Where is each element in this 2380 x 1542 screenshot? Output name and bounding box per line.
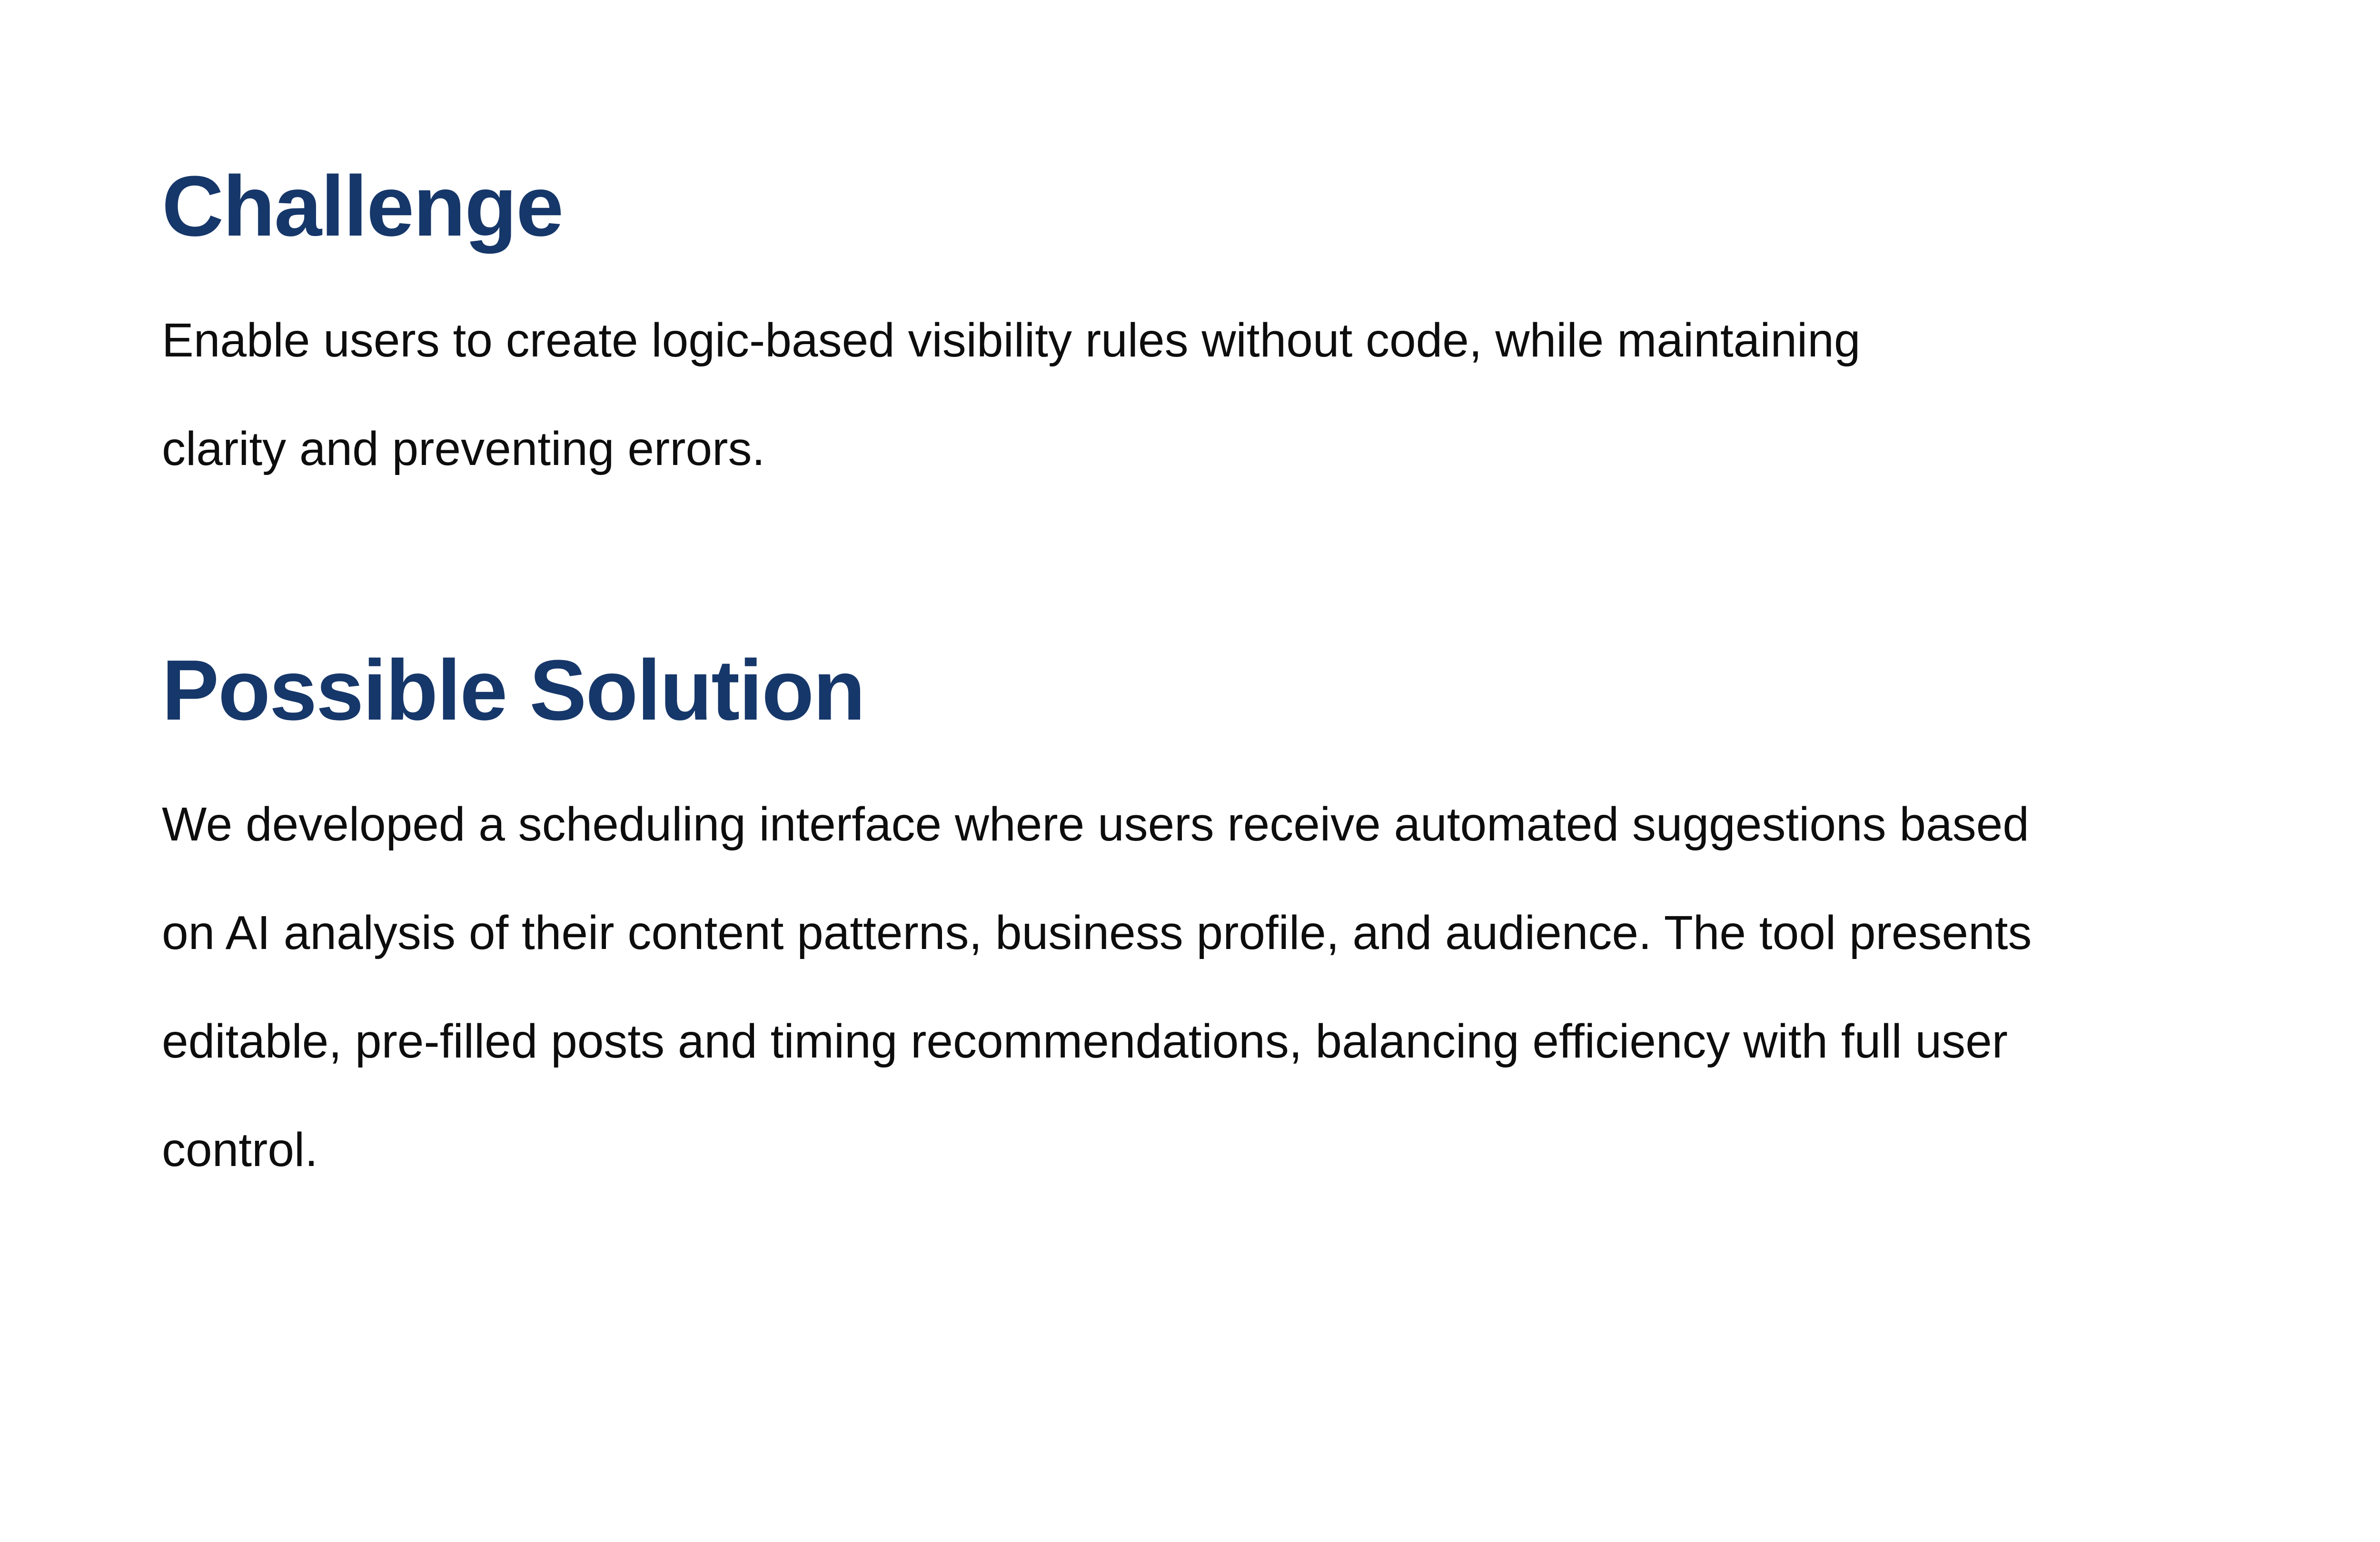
document-page: Challenge Enable users to create logic-b… [0,0,2380,1542]
section-heading-possible-solution: Possible Solution [162,641,2256,740]
section-possible-solution: Possible Solution We developed a schedul… [162,641,2256,1204]
section-heading-challenge: Challenge [162,157,2256,256]
section-challenge: Challenge Enable users to create logic-b… [162,157,2256,503]
section-body-possible-solution: We developed a scheduling interface wher… [162,770,2033,1204]
section-body-challenge: Enable users to create logic-based visib… [162,286,1923,503]
content-column: Challenge Enable users to create logic-b… [162,157,2256,1204]
